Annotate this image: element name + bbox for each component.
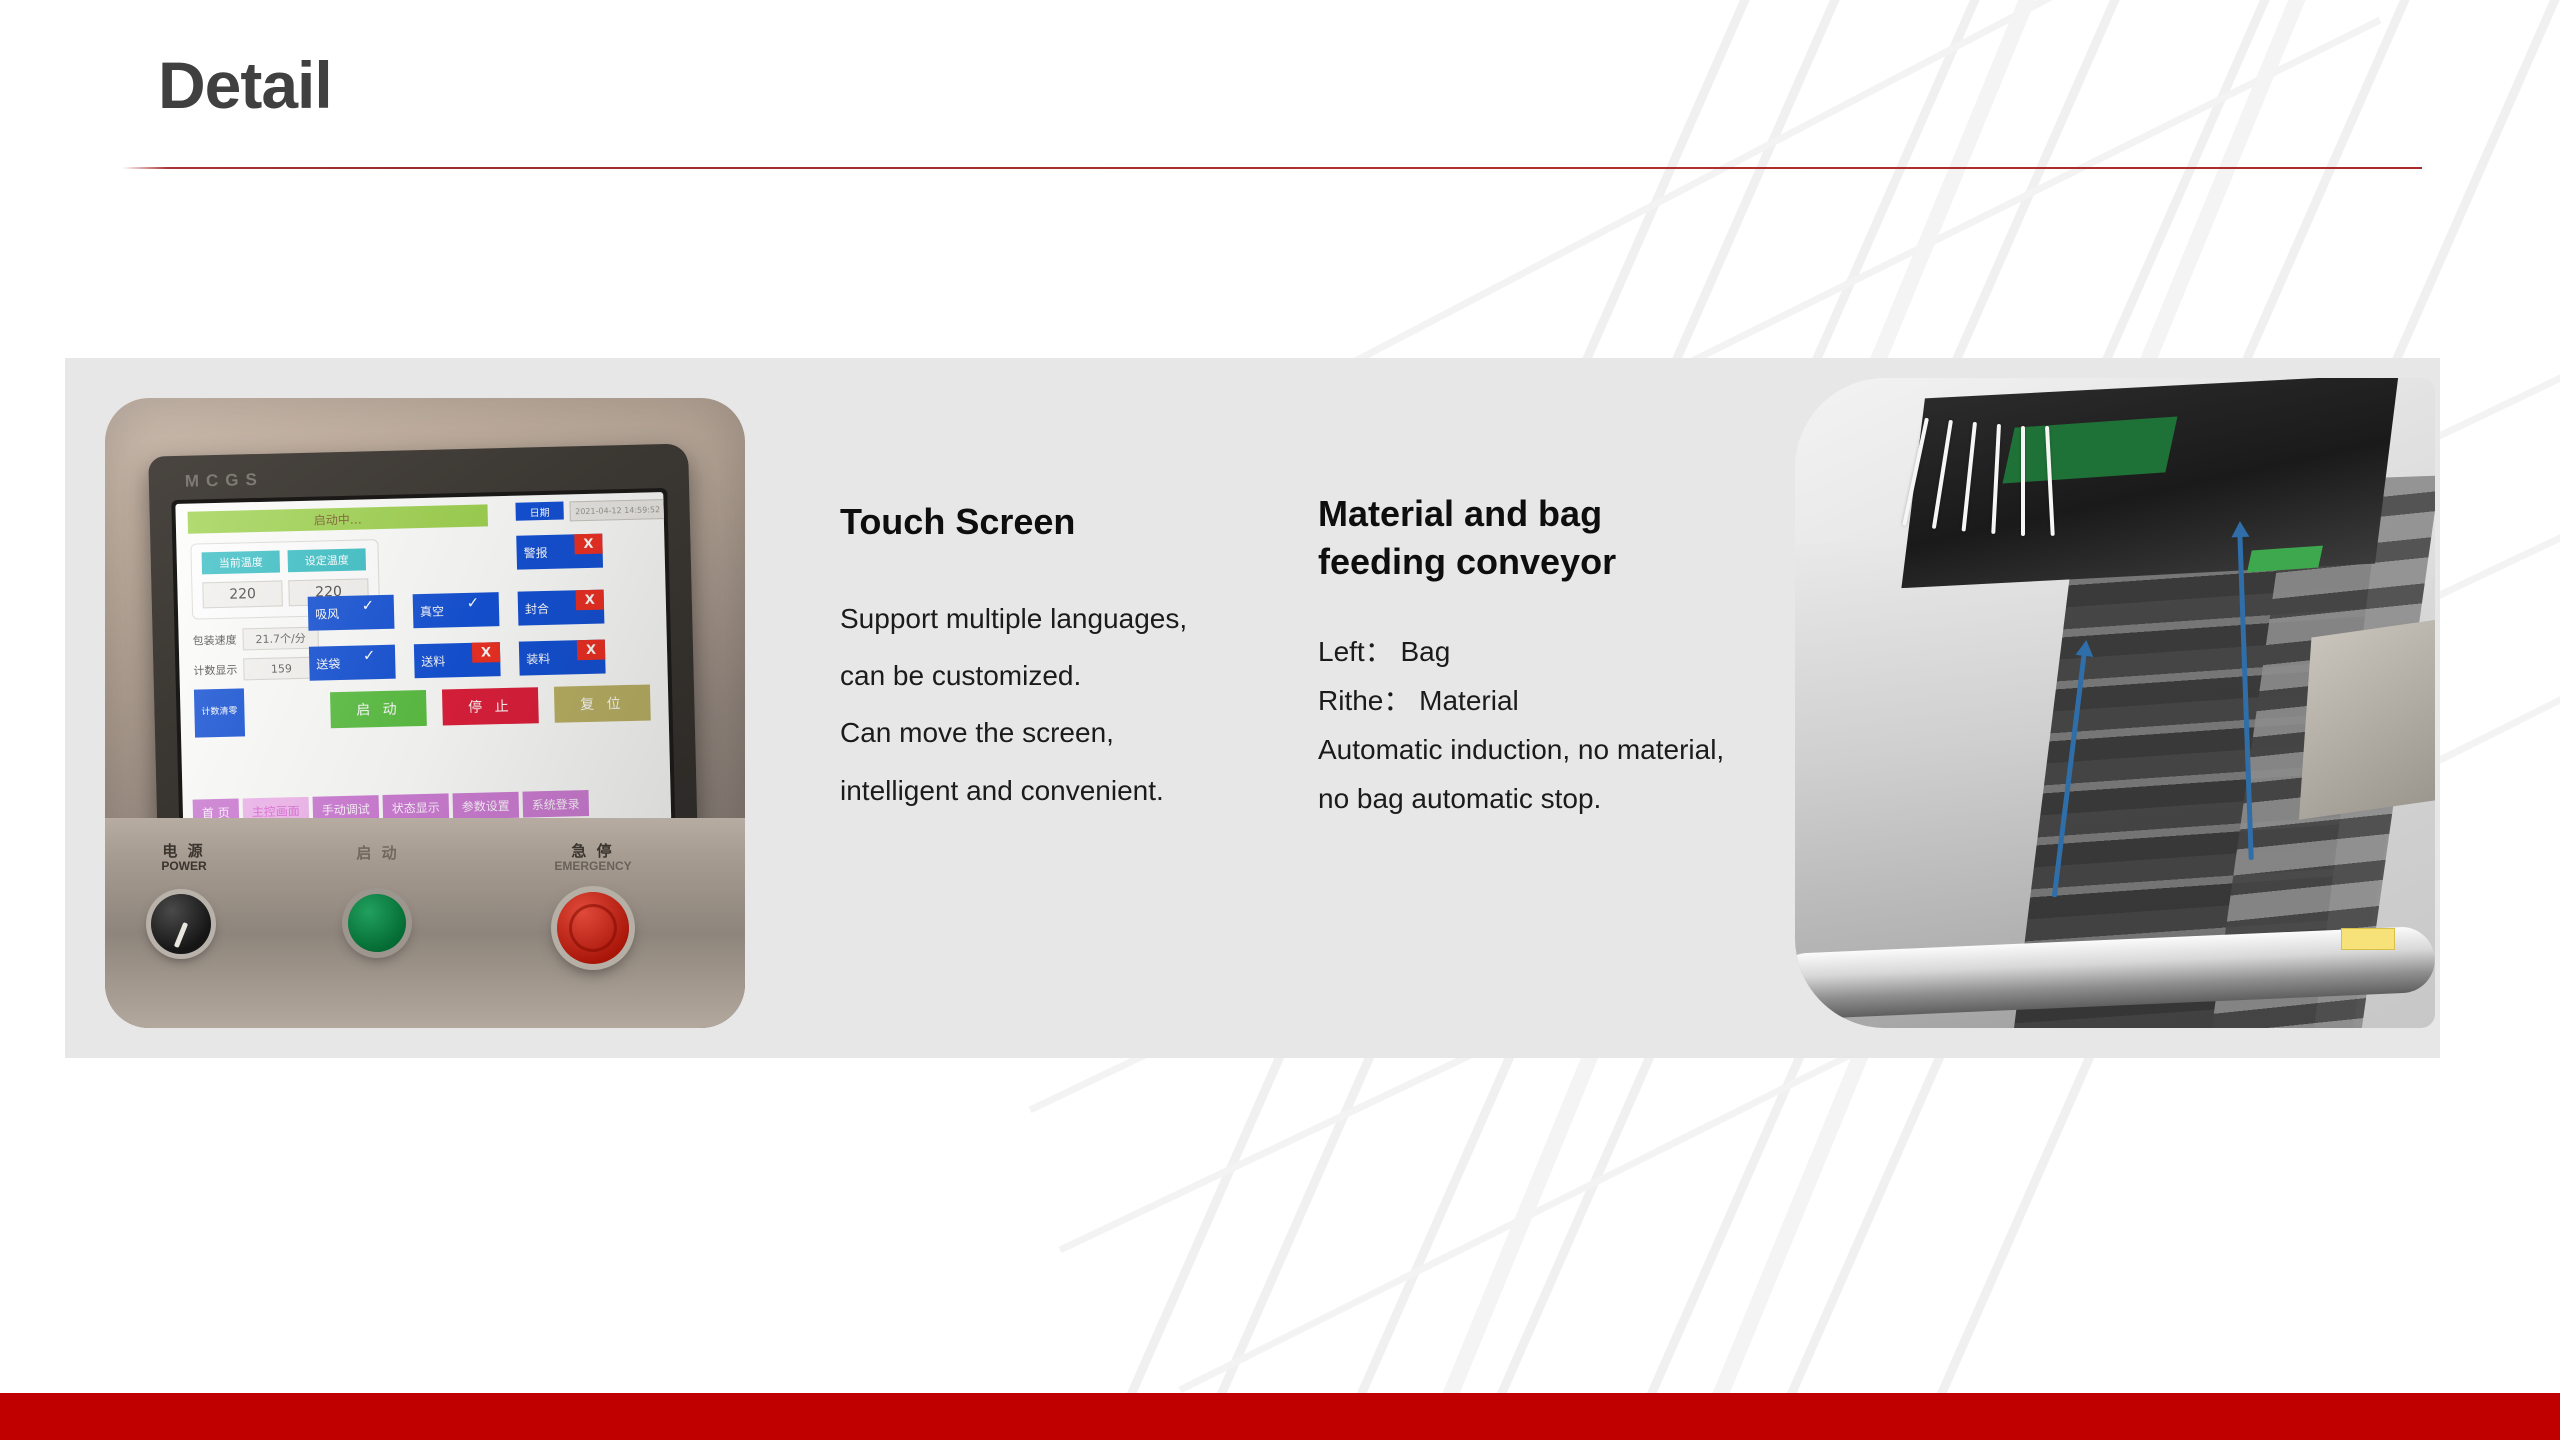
feeding-conveyor-photo <box>1795 378 2435 1028</box>
check-icon: ✓ <box>355 645 383 666</box>
hmi-date-value: 2021-04-12 14:59:52 <box>569 499 665 521</box>
touch-screen-line-3: Can move the screen, <box>840 704 1270 761</box>
hmi-field-speed-label: 包装速度 <box>193 632 237 649</box>
hmi-brand-logo: MCGS <box>185 470 264 492</box>
hmi-indicator-loading-label: 装料 <box>526 649 550 667</box>
cross-icon: X <box>574 534 602 555</box>
hmi-screen[interactable]: 启动中… 日期 2021-04-12 14:59:52 当前温度 设定温度 22… <box>175 492 671 832</box>
machine-steel-panel: 电 源 POWER 启 动 急 停 EMERGENCY <box>105 818 745 1028</box>
hmi-display-frame: 启动中… 日期 2021-04-12 14:59:52 当前温度 设定温度 22… <box>171 488 675 836</box>
hmi-indicator-vacuum-label: 真空 <box>420 602 444 620</box>
hmi-current-temp-value: 220 <box>202 580 283 608</box>
column-feeding-conveyor: Material and bag feeding conveyor Left： … <box>1318 490 1758 823</box>
touch-screen-line-1: Support multiple languages, <box>840 590 1270 647</box>
hmi-count-reset-line1: 计数 <box>201 707 219 719</box>
hmi-reset-button[interactable]: 复 位 <box>554 684 651 722</box>
hmi-nav-parameter-settings[interactable]: 参数设置 <box>452 792 519 820</box>
hmi-status-banner: 启动中… <box>188 504 488 533</box>
hmi-indicator-vacuum[interactable]: 真空 ✓ <box>413 592 500 628</box>
conveyor-line-3: Automatic induction, no material, <box>1318 725 1758 774</box>
conveyor-side-plate <box>2299 616 2435 820</box>
footer-red-band <box>0 1393 2560 1440</box>
conveyor-line-1: Left： Bag <box>1318 627 1758 676</box>
start-button-label-cn: 启 动 <box>323 846 433 862</box>
hmi-bezel: MCGS 启动中… 日期 2021-04-12 14:59:52 当前温度 设定… <box>148 443 698 856</box>
hmi-field-count-label: 计数显示 <box>193 662 237 679</box>
hmi-indicator-material-feed-label: 送料 <box>421 652 445 670</box>
touch-screen-heading: Touch Screen <box>840 498 1270 546</box>
power-selector-knob[interactable] <box>151 894 211 954</box>
cross-icon: X <box>472 642 500 663</box>
conveyor-heading-line-1: Material and bag <box>1318 490 1758 538</box>
hmi-field-speed-value: 21.7个/分 <box>242 627 319 651</box>
start-button-label: 启 动 <box>323 846 433 862</box>
power-switch-label-cn: 电 源 <box>129 844 239 860</box>
title-divider <box>122 167 2422 169</box>
power-switch-label-en: POWER <box>129 860 239 873</box>
hmi-field-speed: 包装速度 21.7个/分 <box>192 627 318 652</box>
hmi-indicator-alarm[interactable]: 警报 X <box>516 534 603 570</box>
hmi-indicator-material-feed[interactable]: 送料 X <box>414 642 501 678</box>
conveyor-line-2: Rithe： Material <box>1318 676 1758 725</box>
conveyor-heading-line-2: feeding conveyor <box>1318 538 1758 586</box>
green-start-push-button[interactable] <box>348 894 406 952</box>
column-touch-screen: Touch Screen Support multiple languages,… <box>840 498 1270 819</box>
hmi-indicator-bag-feed[interactable]: 送袋 ✓ <box>309 645 396 681</box>
hmi-indicator-suction[interactable]: 吸风 ✓ <box>308 595 395 631</box>
cross-icon: X <box>577 640 605 661</box>
conveyor-body: Left： Bag Rithe： Material Automatic indu… <box>1318 627 1758 823</box>
warning-label-icon <box>2341 928 2395 950</box>
hmi-indicator-seal[interactable]: 封合 X <box>518 590 605 626</box>
hmi-date-button[interactable]: 日期 <box>515 502 563 521</box>
hmi-start-button[interactable]: 启 动 <box>330 690 427 728</box>
hmi-count-reset-line2: 清零 <box>219 707 237 719</box>
hmi-field-count-value: 159 <box>243 657 320 681</box>
hmi-field-count: 计数显示 159 <box>193 657 319 682</box>
check-icon: ✓ <box>459 592 487 613</box>
conveyor-line-4: no bag automatic stop. <box>1318 774 1758 823</box>
hmi-set-temp-label: 设定温度 <box>288 548 367 572</box>
hmi-stop-button[interactable]: 停 止 <box>442 687 539 725</box>
page-title: Detail <box>158 52 332 118</box>
hmi-control-panel-photo: MCGS 启动中… 日期 2021-04-12 14:59:52 当前温度 设定… <box>105 398 745 1028</box>
hmi-count-reset-button[interactable]: 计数 清零 <box>194 688 245 737</box>
hmi-nav-status-display[interactable]: 状态显示 <box>382 793 449 821</box>
touch-screen-body: Support multiple languages, can be custo… <box>840 590 1270 820</box>
touch-screen-line-2: can be customized. <box>840 647 1270 704</box>
hmi-indicator-suction-label: 吸风 <box>315 605 339 623</box>
hmi-indicator-loading[interactable]: 装料 X <box>519 640 606 676</box>
emergency-stop-button[interactable] <box>557 892 629 964</box>
hmi-indicator-seal-label: 封合 <box>525 599 549 617</box>
hmi-indicator-bag-feed-label: 送袋 <box>316 655 340 673</box>
check-icon: ✓ <box>354 595 382 616</box>
emergency-stop-label-cn: 急 停 <box>523 844 663 860</box>
hmi-current-temp-label: 当前温度 <box>202 550 281 574</box>
conveyor-air-tubes <box>1915 418 2145 548</box>
touch-screen-line-4: intelligent and convenient. <box>840 762 1270 819</box>
hmi-nav-system-login[interactable]: 系统登录 <box>522 790 589 818</box>
cross-icon: X <box>576 590 604 611</box>
emergency-stop-label: 急 停 EMERGENCY <box>523 844 663 872</box>
hmi-indicator-alarm-label: 警报 <box>523 543 547 561</box>
emergency-stop-label-en: EMERGENCY <box>523 860 663 873</box>
power-switch-label: 电 源 POWER <box>129 844 239 872</box>
